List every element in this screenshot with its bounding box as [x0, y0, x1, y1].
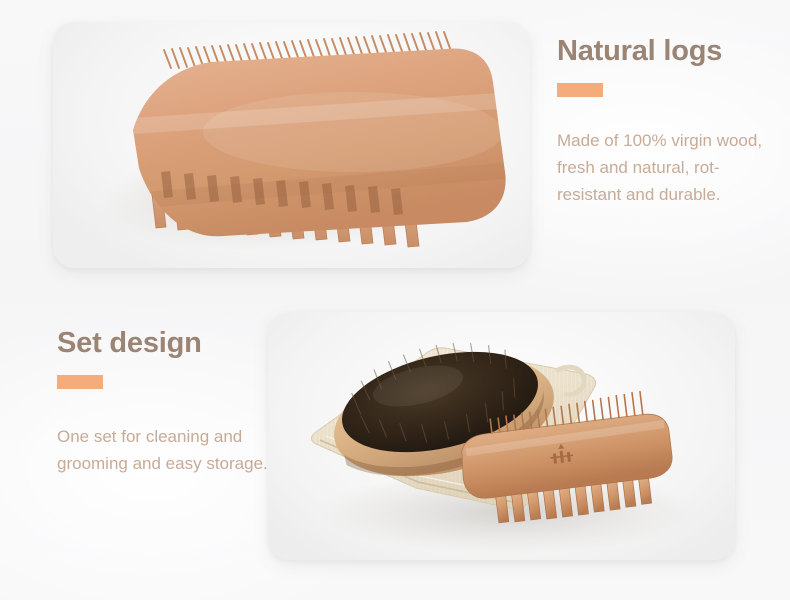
- feature-block-natural-logs: Natural logs Made of 100% virgin wood, f…: [557, 34, 767, 208]
- feature-block-set-design: Set design One set for cleaning and groo…: [57, 326, 272, 477]
- brush-comb-pouch-photo: [268, 312, 735, 560]
- grooming-set-illustration: [268, 312, 735, 560]
- accent-bar: [57, 375, 103, 389]
- feature-title: Natural logs: [557, 34, 767, 68]
- page-background: Natural logs Made of 100% virgin wood, f…: [0, 0, 790, 600]
- wooden-comb-illustration: [53, 22, 530, 268]
- product-image-card-set: [268, 312, 735, 560]
- accent-bar: [557, 83, 603, 97]
- feature-description: One set for cleaning and grooming and ea…: [57, 423, 272, 477]
- feature-description: Made of 100% virgin wood, fresh and natu…: [557, 127, 767, 208]
- product-image-card-comb: [53, 22, 530, 268]
- feature-title: Set design: [57, 326, 272, 360]
- wooden-comb-photo: [53, 22, 530, 268]
